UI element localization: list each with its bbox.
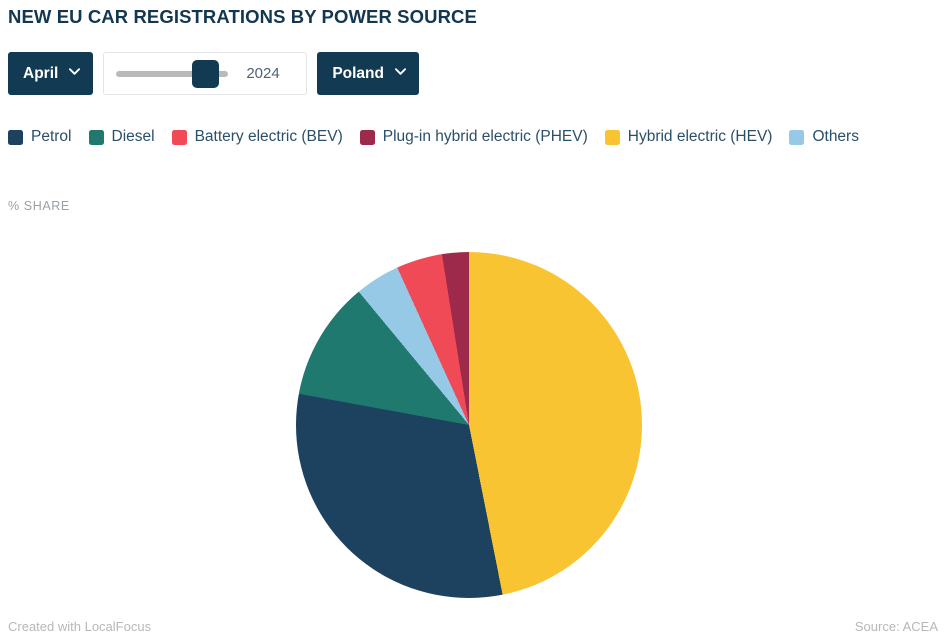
chevron-down-icon — [69, 66, 80, 77]
country-select-value: Poland — [332, 65, 384, 83]
legend-label: Plug-in hybrid electric (PHEV) — [383, 128, 588, 146]
legend-swatch-icon — [360, 130, 375, 145]
controls-bar: April 2024 Poland — [8, 52, 419, 95]
chart-legend: PetrolDieselBattery electric (BEV)Plug-i… — [8, 124, 938, 150]
legend-item[interactable]: Petrol — [8, 124, 72, 150]
legend-item[interactable]: Plug-in hybrid electric (PHEV) — [360, 124, 588, 150]
year-slider-handle[interactable] — [192, 60, 219, 88]
footer-source: Source: ACEA — [855, 619, 938, 634]
year-slider[interactable]: 2024 — [103, 52, 307, 95]
chevron-down-icon — [395, 66, 406, 77]
legend-item[interactable]: Battery electric (BEV) — [172, 124, 343, 150]
legend-item[interactable]: Hybrid electric (HEV) — [605, 124, 773, 150]
pie-chart-area — [0, 225, 948, 610]
legend-swatch-icon — [789, 130, 804, 145]
month-select-value: April — [23, 65, 58, 83]
legend-label: Hybrid electric (HEV) — [628, 128, 773, 146]
footer-credit: Created with LocalFocus — [8, 619, 151, 634]
year-slider-value: 2024 — [246, 65, 279, 82]
legend-swatch-icon — [89, 130, 104, 145]
year-slider-track[interactable] — [116, 71, 228, 77]
page-title: NEW EU CAR REGISTRATIONS BY POWER SOURCE — [8, 6, 477, 28]
pie-chart[interactable] — [296, 252, 642, 598]
legend-label: Diesel — [112, 128, 155, 146]
legend-label: Others — [812, 128, 859, 146]
legend-swatch-icon — [172, 130, 187, 145]
legend-label: Petrol — [31, 128, 72, 146]
legend-label: Battery electric (BEV) — [195, 128, 343, 146]
chart-page: NEW EU CAR REGISTRATIONS BY POWER SOURCE… — [0, 0, 948, 643]
y-axis-label: % SHARE — [8, 199, 70, 213]
legend-item[interactable]: Diesel — [89, 124, 155, 150]
legend-swatch-icon — [605, 130, 620, 145]
legend-item[interactable]: Others — [789, 124, 859, 150]
legend-swatch-icon — [8, 130, 23, 145]
country-select[interactable]: Poland — [317, 52, 419, 95]
month-select[interactable]: April — [8, 52, 93, 95]
